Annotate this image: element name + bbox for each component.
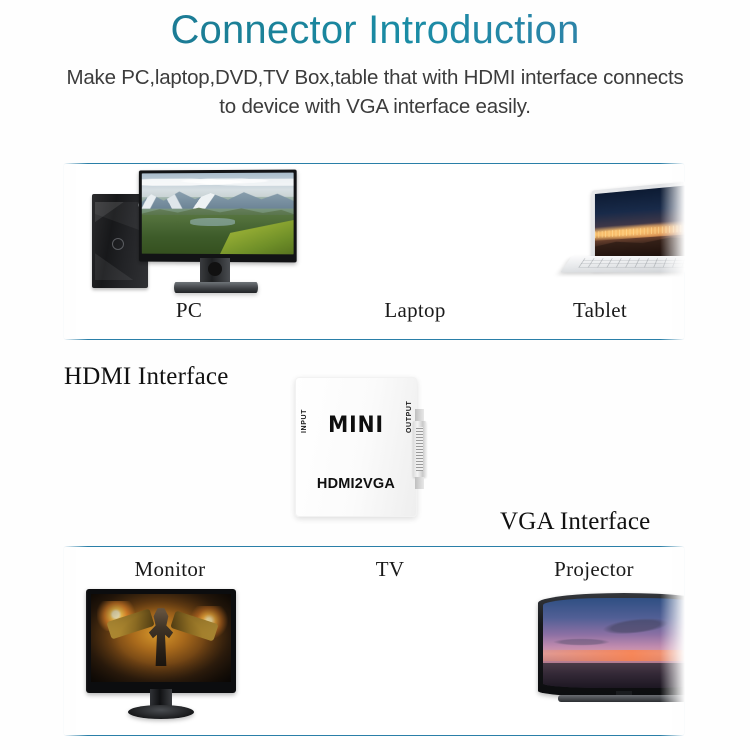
- subtitle-line-1: Make PC,laptop,DVD,TV Box,table that wit…: [14, 63, 736, 92]
- device-card-monitor: Monitor: [64, 547, 276, 733]
- page-title: Connector Introduction: [0, 8, 750, 53]
- monitor-screen: [91, 594, 231, 682]
- monitor-stand-neck: [200, 258, 230, 284]
- infographic-page: Connector Introduction Make PC,laptop,DV…: [0, 0, 750, 750]
- device-card-tablet: Tablet: [516, 164, 684, 336]
- converter-body: INPUT MINI OUTPUT HDMI2VGA: [295, 377, 417, 517]
- game-artwork-wallpaper: [91, 594, 231, 682]
- mountain-landscape-wallpaper: [142, 173, 294, 255]
- device-label-tv: TV: [276, 557, 504, 582]
- converter-output-port-label: OUTPUT: [406, 401, 413, 433]
- subtitle-line-2: to device with VGA interface easily.: [14, 92, 736, 121]
- device-label-pc: PC: [64, 298, 314, 323]
- page-subtitle: Make PC,laptop,DVD,TV Box,table that wit…: [14, 63, 736, 121]
- converter-model-text: HDMI2VGA: [295, 476, 417, 492]
- device-label-monitor: Monitor: [64, 557, 276, 582]
- vga-connector-icon: [413, 421, 426, 477]
- output-devices-panel: Monitor: [63, 546, 685, 736]
- device-card-tv: TV: [276, 547, 504, 733]
- monitor-stand-base: [174, 282, 258, 293]
- source-devices-panel: PC Laptop: [63, 163, 685, 340]
- device-card-pc: PC: [64, 164, 314, 336]
- device-card-projector: Projector: [504, 547, 684, 733]
- converter-brand-text: MINI: [300, 413, 412, 438]
- tower-badge-icon: [112, 238, 124, 250]
- monitor-bezel: [86, 589, 236, 693]
- monitor-stand-base: [128, 705, 194, 719]
- hdmi-interface-label: HDMI Interface: [64, 363, 229, 391]
- device-label-laptop: Laptop: [300, 298, 530, 323]
- monitor-bezel: [139, 170, 297, 263]
- vga-interface-label: VGA Interface: [500, 508, 650, 536]
- device-label-projector: Projector: [504, 557, 684, 582]
- device-label-tablet: Tablet: [516, 298, 684, 323]
- hdmi-to-vga-converter: INPUT MINI OUTPUT HDMI2VGA: [295, 377, 425, 517]
- monitor-screen: [142, 173, 294, 255]
- pc-monitor-icon: [138, 170, 298, 296]
- monitor-icon: [86, 589, 236, 729]
- device-card-laptop: Laptop: [300, 164, 530, 336]
- desktop-computer-icon: [86, 170, 301, 295]
